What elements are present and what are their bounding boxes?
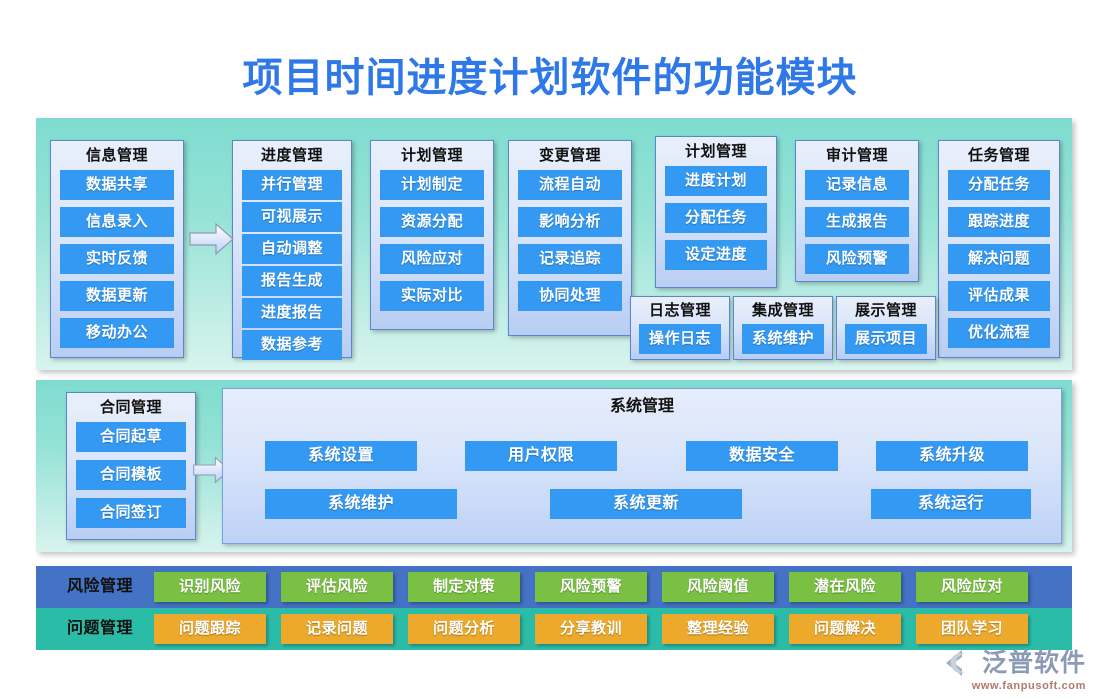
system-chip[interactable]: 系统更新 <box>550 489 742 519</box>
module-card-4[interactable]: 变更管理流程自动影响分析记录追踪协同处理 <box>508 140 632 336</box>
system-chip[interactable]: 系统运行 <box>871 489 1031 519</box>
card-title: 合同管理 <box>67 398 195 418</box>
risk-chip[interactable]: 风险预警 <box>535 572 647 602</box>
module-item[interactable]: 影响分析 <box>518 207 622 237</box>
module-item[interactable]: 记录追踪 <box>518 244 622 274</box>
module-item[interactable]: 风险预警 <box>805 244 909 274</box>
mini-module-card-2[interactable]: 集成管理系统维护 <box>733 296 833 360</box>
module-item[interactable]: 流程自动 <box>518 170 622 200</box>
issue-chip[interactable]: 问题分析 <box>408 614 520 644</box>
card-items: 分配任务跟踪进度解决问题评估成果优化流程 <box>939 170 1059 362</box>
card-title: 集成管理 <box>734 301 832 321</box>
module-item[interactable]: 解决问题 <box>948 244 1050 274</box>
contract-item[interactable]: 合同签订 <box>76 498 186 528</box>
issue-chip[interactable]: 团队学习 <box>916 614 1028 644</box>
card-title: 展示管理 <box>837 301 935 321</box>
module-item[interactable]: 展示项目 <box>845 324 927 354</box>
module-item[interactable]: 分配任务 <box>665 203 767 233</box>
system-management-panel: 系统管理 系统设置用户权限数据安全系统升级系统维护系统更新系统运行 <box>222 388 1062 544</box>
module-item[interactable]: 数据共享 <box>60 170 174 200</box>
card-title: 日志管理 <box>631 301 729 321</box>
module-item[interactable]: 设定进度 <box>665 240 767 270</box>
module-item[interactable]: 跟踪进度 <box>948 207 1050 237</box>
card-title: 任务管理 <box>939 146 1059 166</box>
module-item[interactable]: 计划制定 <box>380 170 484 200</box>
module-item[interactable]: 系统维护 <box>742 324 824 354</box>
system-chip[interactable]: 数据安全 <box>686 441 838 471</box>
system-chip[interactable]: 系统设置 <box>265 441 417 471</box>
module-card-contract[interactable]: 合同管理 合同起草合同模板合同签订 <box>66 392 196 540</box>
card-title: 变更管理 <box>509 146 631 166</box>
module-item[interactable]: 进度报告 <box>242 298 342 328</box>
brand-logo: 泛普软件 www.fanpusoft.com <box>942 647 1086 692</box>
module-item[interactable]: 评估成果 <box>948 281 1050 311</box>
module-item[interactable]: 记录信息 <box>805 170 909 200</box>
module-card-6[interactable]: 审计管理记录信息生成报告风险预警 <box>795 140 919 282</box>
module-item[interactable]: 风险应对 <box>380 244 484 274</box>
system-management-title: 系统管理 <box>223 396 1061 418</box>
brand-url: www.fanpusoft.com <box>942 680 1086 692</box>
mini-module-card-3[interactable]: 展示管理展示项目 <box>836 296 936 360</box>
card-items: 记录信息生成报告风险预警 <box>796 170 918 288</box>
card-items: 进度计划分配任务设定进度 <box>656 166 776 284</box>
card-title: 计划管理 <box>371 146 493 166</box>
risk-management-label: 风险管理 <box>46 566 154 608</box>
card-items: 合同起草合同模板合同签订 <box>67 422 195 543</box>
mini-module-card-1[interactable]: 日志管理操作日志 <box>630 296 730 360</box>
card-items: 流程自动影响分析记录追踪协同处理 <box>509 170 631 325</box>
contract-item[interactable]: 合同起草 <box>76 422 186 452</box>
module-item[interactable]: 信息录入 <box>60 207 174 237</box>
card-items: 展示项目 <box>837 324 935 360</box>
system-chip[interactable]: 系统升级 <box>876 441 1028 471</box>
flow-arrow-icon-1 <box>188 222 236 256</box>
module-item[interactable]: 分配任务 <box>948 170 1050 200</box>
module-item[interactable]: 优化流程 <box>948 318 1050 348</box>
issue-management-label: 问题管理 <box>46 608 154 650</box>
module-item[interactable]: 生成报告 <box>805 207 909 237</box>
module-card-1[interactable]: 信息管理数据共享信息录入实时反馈数据更新移动办公 <box>50 140 184 358</box>
page-title: 项目时间进度计划软件的功能模块 <box>0 50 1100 106</box>
module-item[interactable]: 并行管理 <box>242 170 342 200</box>
fanpu-logo-icon <box>942 647 978 679</box>
module-item[interactable]: 数据参考 <box>242 330 342 360</box>
module-item[interactable]: 可视展示 <box>242 202 342 232</box>
risk-management-bar: 风险管理 识别风险评估风险制定对策风险预警风险阈值潜在风险风险应对 <box>36 566 1072 608</box>
card-items: 数据共享信息录入实时反馈数据更新移动办公 <box>51 170 183 362</box>
card-title: 信息管理 <box>51 146 183 166</box>
module-item[interactable]: 数据更新 <box>60 281 174 311</box>
brand-name: 泛普软件 <box>982 649 1086 677</box>
risk-chip[interactable]: 风险应对 <box>916 572 1028 602</box>
issue-chip[interactable]: 记录问题 <box>281 614 393 644</box>
module-card-7[interactable]: 任务管理分配任务跟踪进度解决问题评估成果优化流程 <box>938 140 1060 358</box>
system-chip[interactable]: 系统维护 <box>265 489 457 519</box>
risk-chip[interactable]: 制定对策 <box>408 572 520 602</box>
module-item[interactable]: 实际对比 <box>380 281 484 311</box>
module-item[interactable]: 自动调整 <box>242 234 342 264</box>
issue-chip[interactable]: 问题解决 <box>789 614 901 644</box>
risk-chip[interactable]: 评估风险 <box>281 572 393 602</box>
card-title: 计划管理 <box>656 142 776 162</box>
module-item[interactable]: 操作日志 <box>639 324 721 354</box>
module-item[interactable]: 协同处理 <box>518 281 622 311</box>
contract-item[interactable]: 合同模板 <box>76 460 186 490</box>
module-card-2[interactable]: 进度管理并行管理可视展示自动调整报告生成进度报告数据参考 <box>232 140 352 358</box>
system-chip[interactable]: 用户权限 <box>465 441 617 471</box>
risk-chip[interactable]: 识别风险 <box>154 572 266 602</box>
card-title: 进度管理 <box>233 146 351 166</box>
risk-chip[interactable]: 风险阈值 <box>662 572 774 602</box>
module-item[interactable]: 资源分配 <box>380 207 484 237</box>
module-item[interactable]: 实时反馈 <box>60 244 174 274</box>
issue-chip[interactable]: 分享教训 <box>535 614 647 644</box>
risk-chip[interactable]: 潜在风险 <box>789 572 901 602</box>
issue-chip[interactable]: 整理经验 <box>662 614 774 644</box>
module-item[interactable]: 移动办公 <box>60 318 174 348</box>
issue-management-bar: 问题管理 问题跟踪记录问题问题分析分享教训整理经验问题解决团队学习 <box>36 608 1072 650</box>
card-items: 系统维护 <box>734 324 832 360</box>
module-item[interactable]: 进度计划 <box>665 166 767 196</box>
card-title: 审计管理 <box>796 146 918 166</box>
card-items: 并行管理可视展示自动调整报告生成进度报告数据参考 <box>233 170 351 369</box>
card-items: 计划制定资源分配风险应对实际对比 <box>371 170 493 325</box>
module-card-5[interactable]: 计划管理进度计划分配任务设定进度 <box>655 136 777 288</box>
module-card-3[interactable]: 计划管理计划制定资源分配风险应对实际对比 <box>370 140 494 330</box>
card-items: 操作日志 <box>631 324 729 360</box>
issue-chip[interactable]: 问题跟踪 <box>154 614 266 644</box>
module-item[interactable]: 报告生成 <box>242 266 342 296</box>
